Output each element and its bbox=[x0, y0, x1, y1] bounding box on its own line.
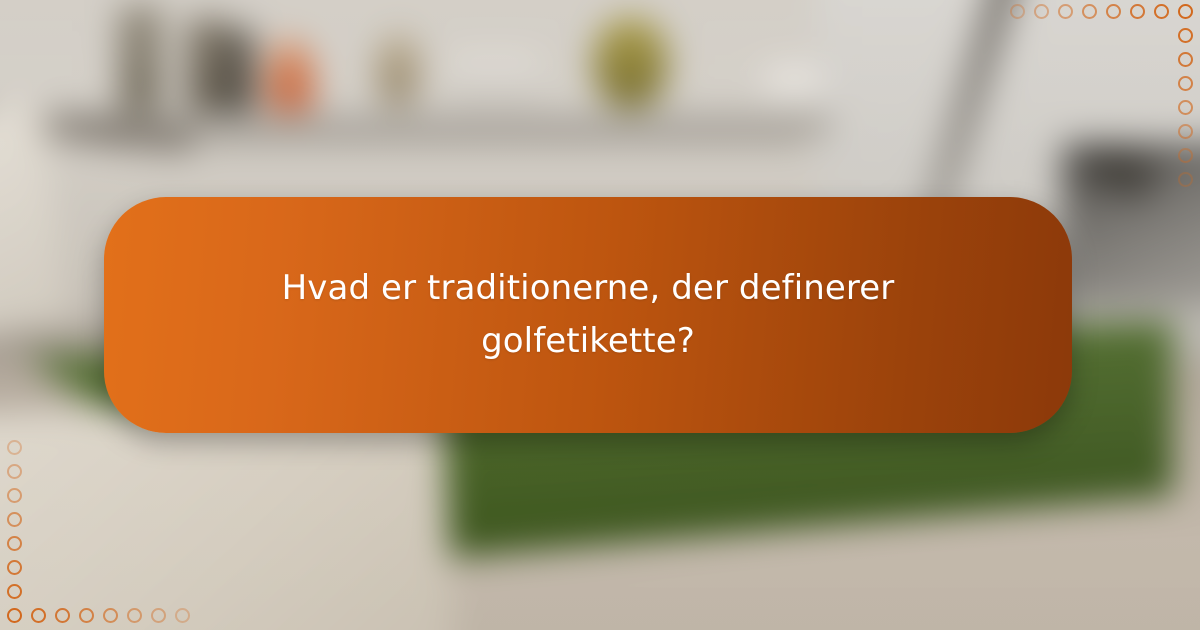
dot-left-column bbox=[7, 584, 22, 599]
bg-shelf-object-2 bbox=[186, 18, 227, 112]
dot-top-row bbox=[1082, 4, 1097, 19]
dot-top-row bbox=[1130, 4, 1145, 19]
dot-right-column bbox=[1178, 76, 1193, 91]
dot-right-column bbox=[1178, 124, 1193, 139]
dot-left-column bbox=[7, 512, 22, 527]
dot-bottom-row bbox=[151, 608, 166, 623]
dot-left-column bbox=[7, 560, 22, 575]
dot-top-row bbox=[1010, 4, 1025, 19]
dot-bottom-row bbox=[175, 608, 190, 623]
dot-bottom-row bbox=[31, 608, 46, 623]
dot-bottom-row bbox=[103, 608, 118, 623]
question-card-banner: Hvad er traditionerne, der definerer gol… bbox=[0, 0, 1200, 630]
bg-shelf-object-1 bbox=[118, 6, 161, 111]
dot-top-row bbox=[1178, 4, 1193, 19]
bg-shelf-plant bbox=[593, 18, 668, 108]
bg-shelf-object-5 bbox=[376, 35, 419, 106]
bg-shelf-underside bbox=[98, 131, 804, 143]
dot-right-column bbox=[1178, 148, 1193, 163]
dot-right-column bbox=[1178, 100, 1193, 115]
bg-shelf-object-7 bbox=[763, 67, 824, 105]
dot-bottom-row bbox=[79, 608, 94, 623]
dot-right-column bbox=[1178, 28, 1193, 43]
dot-right-column bbox=[1178, 52, 1193, 67]
dot-left-column bbox=[7, 536, 22, 551]
dot-top-row bbox=[1058, 4, 1073, 19]
dot-top-row bbox=[1106, 4, 1121, 19]
dot-bottom-row bbox=[55, 608, 70, 623]
bg-shelf-object-3 bbox=[224, 29, 254, 112]
question-card[interactable]: Hvad er traditionerne, der definerer gol… bbox=[104, 197, 1072, 433]
dot-top-row bbox=[1034, 4, 1049, 19]
bg-shelf-object-6 bbox=[451, 55, 539, 104]
dot-bottom-row bbox=[7, 608, 22, 623]
question-text: Hvad er traditionerne, der definerer gol… bbox=[268, 262, 908, 367]
dot-left-column bbox=[7, 440, 22, 455]
dot-left-column bbox=[7, 464, 22, 479]
dot-top-row bbox=[1154, 4, 1169, 19]
dot-bottom-row bbox=[127, 608, 142, 623]
dot-left-column bbox=[7, 488, 22, 503]
bg-shelf-object-4 bbox=[268, 40, 314, 111]
dot-right-column bbox=[1178, 172, 1193, 187]
